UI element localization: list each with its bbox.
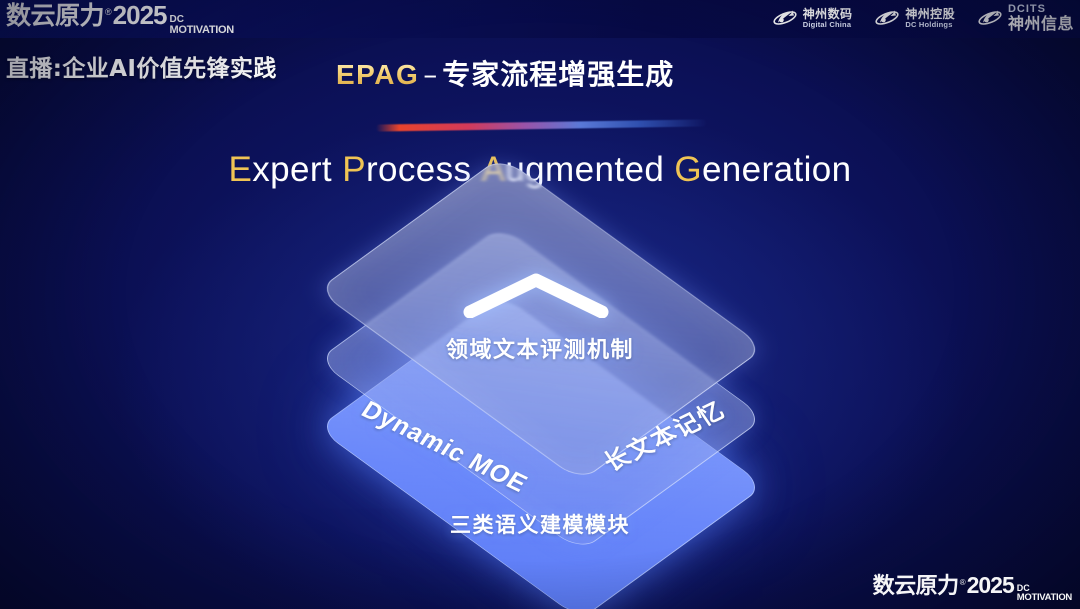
title-dash: –: [423, 58, 438, 91]
title-chinese: 专家流程增强生成: [442, 58, 674, 91]
partner-label: DCITS 神州信息: [1008, 4, 1074, 32]
swirl-logo-icon: [772, 7, 798, 29]
chevron-up-icon: [462, 270, 610, 318]
subtitle-cap-p: P: [342, 150, 366, 189]
subtitle-cap-g: G: [674, 150, 702, 189]
page-title: EPAG–专家流程增强生成: [336, 53, 674, 93]
brand-dc-motivation: DC MOTIVATION: [170, 15, 234, 36]
layer-label-long-text-memory: 长文本记忆: [595, 391, 732, 477]
partner-name-cn: 神州数码: [803, 8, 853, 21]
subtitle-rest-augmented: ugmented: [505, 150, 664, 189]
partner-name-cn: 神州控股: [905, 8, 955, 21]
partner-name-en: DC Holdings: [905, 21, 955, 29]
subtitle-cap-e: E: [229, 150, 253, 189]
brand-motivation-label: MOTIVATION: [170, 25, 234, 36]
page-subtitle: Expert Process Augmented Generation: [0, 150, 1080, 190]
layer-label-dynamic-moe: Dynamic MOE: [356, 396, 533, 499]
brand-year: 2025: [113, 2, 167, 28]
partner-label: 神州数码 Digital China: [803, 8, 853, 28]
partner-label: 神州控股 DC Holdings: [905, 8, 955, 28]
gradient-divider: [376, 119, 706, 131]
subtitle-rest-generation: eneration: [702, 150, 852, 189]
footer-brand-motivation-label: MOTIVATION: [1017, 593, 1072, 603]
partner-logo-dc-holdings: 神州控股 DC Holdings: [874, 7, 955, 29]
partner-name-cn: 神州信息: [1008, 16, 1074, 33]
subtitle-cap-a: A: [482, 150, 506, 189]
layer-label-top: 领域文本评测机制: [0, 332, 1080, 364]
footer-registered-mark-icon: ®: [960, 578, 966, 587]
footer-brand-dc-motivation: DC MOTIVATION: [1017, 584, 1072, 603]
brand-name-cn: 数云原力: [6, 3, 104, 28]
swirl-logo-icon: [977, 7, 1003, 29]
layer-label-bottom: 三类语义建模模块: [0, 509, 1080, 539]
footer-brand-year: 2025: [967, 574, 1014, 597]
title-acronym: EPAG: [336, 59, 419, 90]
footer-watermark-logo: 数云原力 ® 2025 DC MOTIVATION: [873, 574, 1072, 605]
swirl-logo-icon: [874, 7, 900, 29]
partner-logo-group: 神州数码 Digital China 神州控股 DC Holdings: [772, 4, 1074, 32]
slide-canvas: 数云原力 ® 2025 DC MOTIVATION 神州数码 Digital C…: [0, 0, 1080, 609]
subtitle-rest-expert: xpert: [252, 150, 332, 189]
brand-logo: 数云原力 ® 2025 DC MOTIVATION: [6, 2, 234, 38]
registered-mark-icon: ®: [105, 7, 112, 17]
live-broadcast-tag: 直播:企业AI价值先锋实践: [6, 49, 277, 83]
footer-brand-name-cn: 数云原力: [873, 576, 959, 598]
partner-name-en: Digital China: [803, 21, 853, 29]
partner-logo-digital-china: 神州数码 Digital China: [772, 7, 853, 29]
partner-logo-dcits: DCITS 神州信息: [977, 4, 1074, 32]
subtitle-rest-process: rocess: [366, 150, 472, 189]
